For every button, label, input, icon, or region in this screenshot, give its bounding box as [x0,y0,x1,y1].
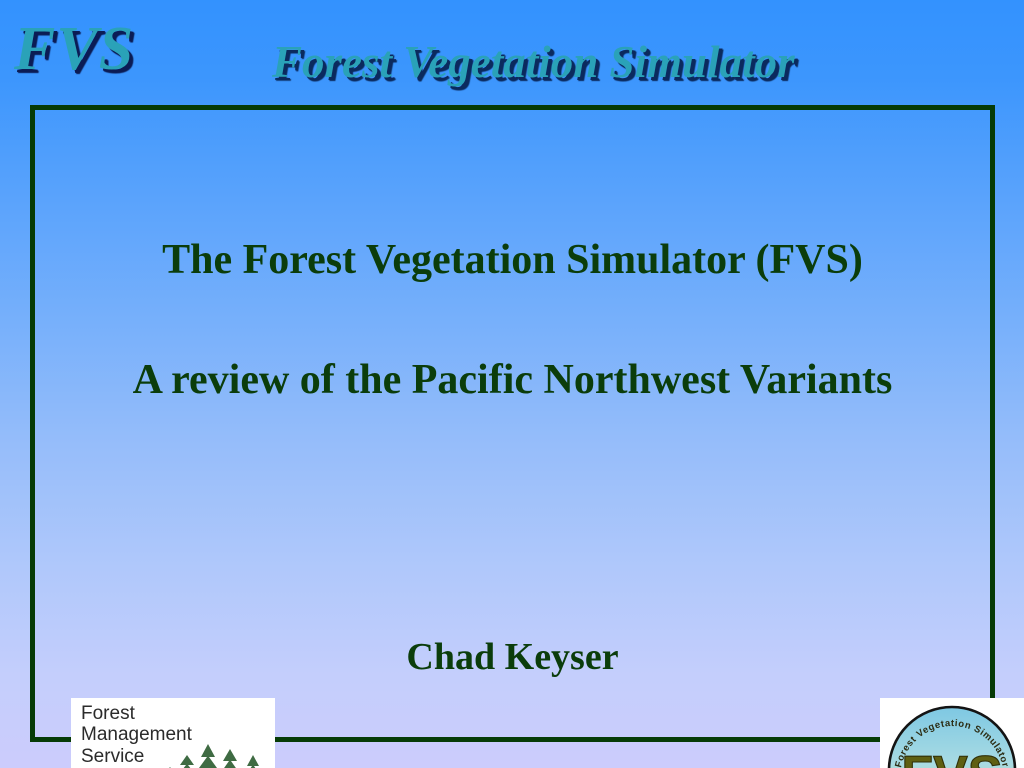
banner-title: Forest Vegetation Simulator [272,40,795,85]
fvs-seal-center-text: FVS [901,746,1002,768]
slide-header-banner: FVS Forest Vegetation Simulator [0,0,1024,105]
presenter-name: Chad Keyser [35,638,990,676]
fvs-seal-logo: FVS Forest Vegetation Simulator USDA For… [880,698,1024,768]
page-subtitle: A review of the Pacific Northwest Varian… [35,358,990,402]
forest-management-service-center-logo: Forest Management Service Center [71,698,275,768]
presentation-slide: FVS Forest Vegetation Simulator The Fore… [0,0,1024,768]
fmsc-line-1: Forest [81,703,192,724]
slide-content-frame: The Forest Vegetation Simulator (FVS) A … [30,105,995,742]
page-title: The Forest Vegetation Simulator (FVS) [35,238,990,282]
fvs-brand-mark: FVS [14,18,134,80]
fvs-seal-graphic: FVS Forest Vegetation Simulator USDA For… [880,698,1024,768]
conifer-trees-icon [153,730,273,768]
